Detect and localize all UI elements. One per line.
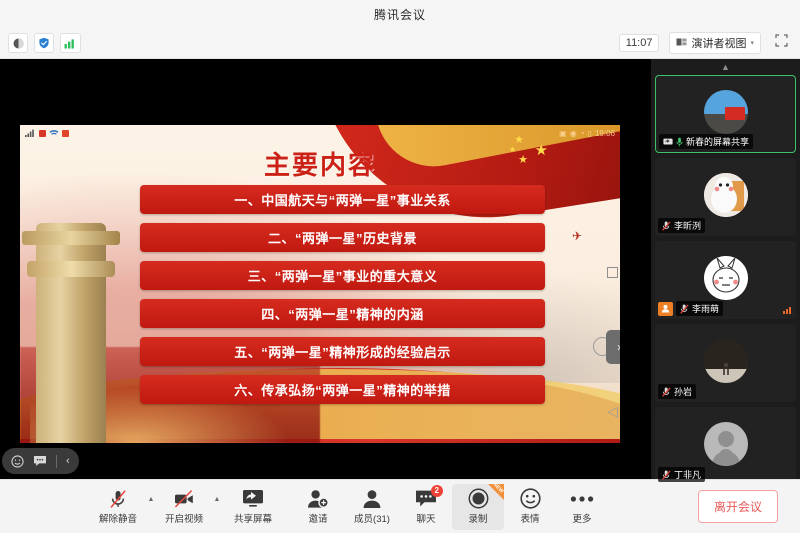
wifi-icon	[49, 130, 59, 137]
participant-name: 李雨萌	[692, 302, 719, 315]
record-button[interactable]: NEW 录制	[452, 484, 504, 530]
slide-item: 四、“两弹一星”精神的内涵	[140, 299, 545, 328]
meeting-clock: 11:07	[619, 34, 660, 52]
avatar	[704, 339, 748, 383]
name-chip: 丁非凡	[658, 467, 705, 482]
meeting-sub-toolbar: 11:07 演讲者视图 ▾	[0, 28, 800, 59]
members-button[interactable]: 成员(31)	[344, 484, 400, 530]
android-status-right: ▣ ◉ ◔ ▯ 19:06	[559, 129, 615, 138]
floating-mini-toolbar[interactable]: ‹	[2, 448, 79, 474]
mic-muted-icon	[662, 221, 671, 231]
half-moon-icon[interactable]	[8, 33, 28, 53]
huabiao-pillar	[36, 223, 106, 443]
slide-item: 二、“两弹一星”历史背景	[140, 223, 545, 252]
signal-bars-icon[interactable]	[60, 33, 81, 53]
participant-tile[interactable]: 李雨萌	[655, 241, 796, 319]
chat-button[interactable]: 2 聊天	[400, 484, 452, 530]
participants-rail: ▲ 新春的屏幕共享 李昕洌	[651, 59, 800, 479]
participant-namebar: 新春的屏幕共享	[659, 134, 753, 149]
name-chip: 孙岩	[658, 384, 696, 399]
drawer-handle-icon[interactable]: ›	[606, 330, 620, 364]
chat-unread-badge: 2	[431, 485, 443, 497]
android-status-bar: ▣ ◉ ◔ ▯ 19:06	[20, 125, 620, 141]
more-dots-icon	[570, 489, 594, 509]
tool-label: 录制	[468, 511, 487, 525]
name-chip: 李昕洌	[658, 218, 705, 233]
invite-person-icon	[307, 489, 329, 509]
tool-label: 开启视频	[165, 511, 203, 525]
participant-name: 新春的屏幕共享	[686, 135, 749, 148]
sub-toolbar-left	[8, 33, 81, 53]
stop-square-icon[interactable]	[607, 267, 618, 278]
slide-item-list: 一、中国航天与“两弹一星”事业关系 二、“两弹一星”历史背景 三、“两弹一星”事…	[140, 185, 545, 413]
participant-namebar: 李雨萌	[658, 301, 723, 316]
name-chip: 李雨萌	[676, 301, 723, 316]
meeting-bottom-toolbar: 解除静音 ▲ 开启视频 ▲ 共享屏幕 邀请	[0, 479, 800, 533]
sub-toolbar-right: 11:07 演讲者视图 ▾	[619, 32, 792, 54]
shared-phone-screen: ★ ★ ★ ★ ✈ ▣	[20, 125, 620, 443]
host-icon	[658, 302, 673, 316]
tool-label: 邀请	[308, 511, 327, 525]
participant-tile[interactable]: 李昕洌	[655, 158, 796, 236]
signal-strength-icon	[783, 307, 791, 314]
app-icon	[62, 130, 69, 137]
emoji-icon[interactable]	[11, 455, 24, 468]
emoji-icon	[520, 489, 541, 509]
cast-icon: ▣	[559, 129, 567, 138]
participant-namebar: 李昕洌	[658, 218, 705, 233]
android-status-left	[25, 129, 69, 137]
android-clock: 19:06	[595, 129, 615, 138]
participant-tile[interactable]: 孙岩	[655, 324, 796, 402]
mic-muted-icon	[680, 304, 689, 314]
participant-tile-share[interactable]: 新春的屏幕共享	[655, 75, 796, 153]
unmute-button[interactable]: 解除静音	[92, 484, 144, 530]
participant-name: 李昕洌	[674, 219, 701, 232]
avatar	[704, 173, 748, 217]
tool-label: 更多	[572, 511, 591, 525]
slide-title: 主要内容	[20, 145, 620, 182]
mic-muted-icon	[662, 470, 671, 480]
view-mode-selector[interactable]: 演讲者视图 ▾	[669, 32, 761, 54]
toolbar-tools: 解除静音 ▲ 开启视频 ▲ 共享屏幕 邀请	[92, 484, 608, 530]
bird-icon: ✈	[572, 229, 582, 243]
slide-item: 六、传承弘扬“两弹一星”精神的举措	[140, 375, 545, 404]
participant-name: 丁非凡	[674, 468, 701, 481]
emoji-button[interactable]: 表情	[504, 484, 556, 530]
name-chip: 新春的屏幕共享	[659, 134, 753, 149]
participant-namebar: 孙岩	[658, 384, 696, 399]
start-video-button[interactable]: 开启视频	[158, 484, 210, 530]
avatar	[704, 422, 748, 466]
back-triangle-icon[interactable]: ◁	[607, 403, 618, 420]
leave-meeting-button[interactable]: 离开会议	[698, 490, 778, 523]
layout-icon	[676, 38, 687, 49]
participant-namebar: 丁非凡	[658, 467, 705, 482]
tool-label: 聊天	[416, 511, 435, 525]
chevron-down-icon[interactable]: ▾	[750, 39, 754, 47]
scroll-up-arrow[interactable]: ▲	[655, 59, 796, 75]
fullscreen-icon[interactable]	[771, 32, 792, 54]
divider	[56, 455, 57, 468]
collapse-left-icon[interactable]: ‹	[66, 455, 70, 467]
new-ribbon-badge: NEW	[488, 484, 504, 500]
share-screen-icon	[242, 489, 264, 509]
shared-screen-stage[interactable]: ★ ★ ★ ★ ✈ ▣	[0, 59, 651, 479]
app-title: 腾讯会议	[374, 6, 426, 23]
avatar	[704, 90, 748, 134]
tool-label: 成员(31)	[354, 511, 390, 525]
participant-name: 孙岩	[674, 385, 692, 398]
shield-icon[interactable]	[34, 33, 54, 53]
video-options-caret[interactable]: ▲	[210, 484, 224, 530]
tool-label: 表情	[520, 511, 539, 525]
view-mode-label: 演讲者视图	[691, 35, 746, 51]
mic-record-icon	[39, 130, 46, 137]
camera-off-icon	[173, 489, 195, 509]
window-title-bar: 腾讯会议	[0, 0, 800, 28]
mic-on-icon	[676, 137, 683, 147]
alarm-icon: ◔	[580, 129, 585, 138]
share-screen-button[interactable]: 共享屏幕	[224, 484, 282, 530]
slide-item: 三、“两弹一星”事业的重大意义	[140, 261, 545, 290]
record-circle-icon	[468, 489, 489, 509]
more-button[interactable]: 更多	[556, 484, 608, 530]
invite-button[interactable]: 邀请	[292, 484, 344, 530]
vibrate-icon: ▯	[588, 129, 592, 138]
members-icon	[362, 489, 382, 509]
slide-item: 五、“两弹一星”精神形成的经验启示	[140, 337, 545, 366]
tool-label: 共享屏幕	[234, 511, 272, 525]
audio-options-caret[interactable]: ▲	[144, 484, 158, 530]
tool-label: 解除静音	[99, 511, 137, 525]
avatar	[704, 256, 748, 300]
eye-icon: ◉	[570, 129, 577, 138]
mic-muted-icon	[662, 387, 671, 397]
mic-muted-icon	[108, 489, 128, 509]
tencent-meeting-window: 腾讯会议 11:07 演讲者视图 ▾	[0, 0, 800, 533]
slide-item: 一、中国航天与“两弹一星”事业关系	[140, 185, 545, 214]
chat-bubble-icon[interactable]	[33, 455, 47, 467]
signal-icon	[25, 129, 36, 137]
participant-tile[interactable]: 丁非凡	[655, 407, 796, 485]
share-screen-icon	[663, 138, 673, 146]
